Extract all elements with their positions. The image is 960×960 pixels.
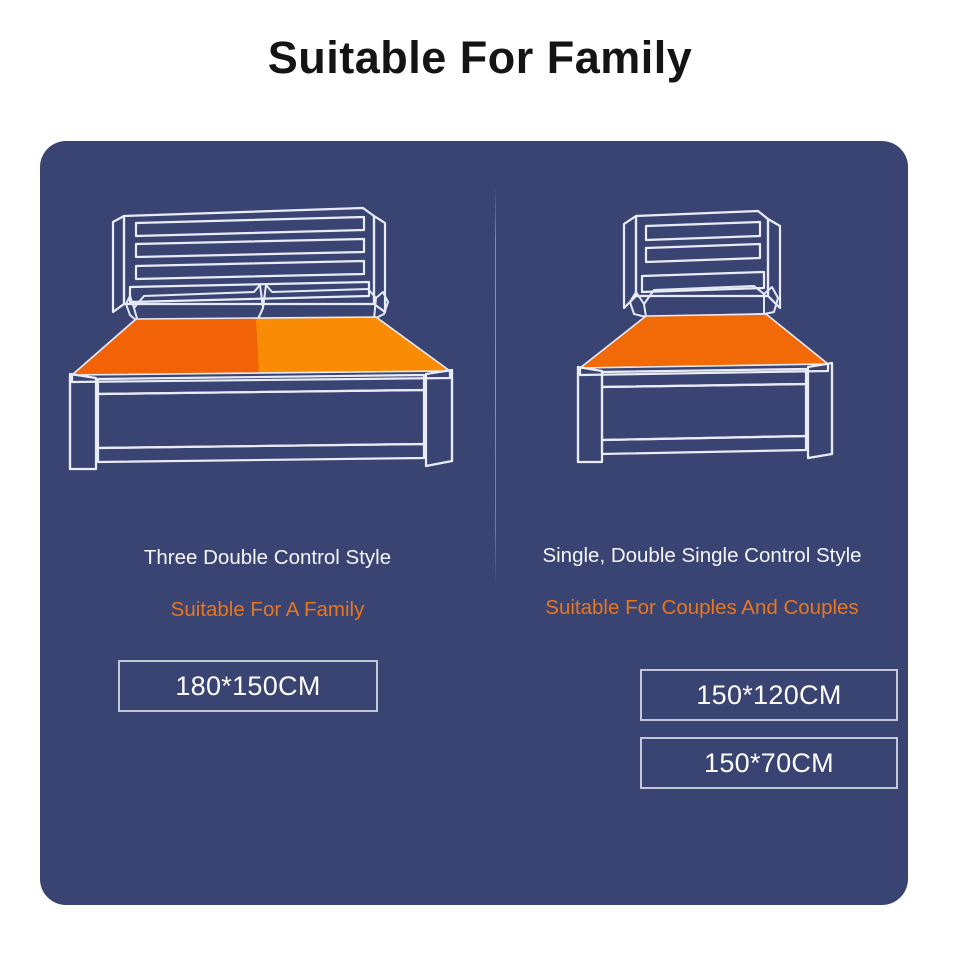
- page-title: Suitable For Family: [0, 33, 960, 83]
- size-option-180x150[interactable]: 180*150CM: [118, 660, 378, 712]
- mattress-surface: [580, 314, 828, 368]
- size-option-150x120[interactable]: 150*120CM: [640, 669, 898, 721]
- single-bed-suitable-label: Suitable For Couples And Couples: [496, 596, 908, 620]
- size-option-150x70[interactable]: 150*70CM: [640, 737, 898, 789]
- option-double-bed: Three Double Control Style Suitable For …: [40, 141, 495, 905]
- double-bed-icon: [58, 186, 478, 486]
- mattress-surface: [72, 317, 450, 375]
- double-bed-suitable-label: Suitable For A Family: [40, 598, 495, 622]
- single-bed-style-label: Single, Double Single Control Style: [496, 544, 908, 568]
- single-bed-icon: [558, 186, 868, 486]
- comparison-panel: Three Double Control Style Suitable For …: [40, 141, 908, 905]
- double-bed-illustration: [58, 186, 478, 486]
- option-single-bed: Single, Double Single Control Style Suit…: [496, 141, 908, 905]
- single-bed-illustration: [558, 186, 868, 486]
- double-bed-style-label: Three Double Control Style: [40, 546, 495, 570]
